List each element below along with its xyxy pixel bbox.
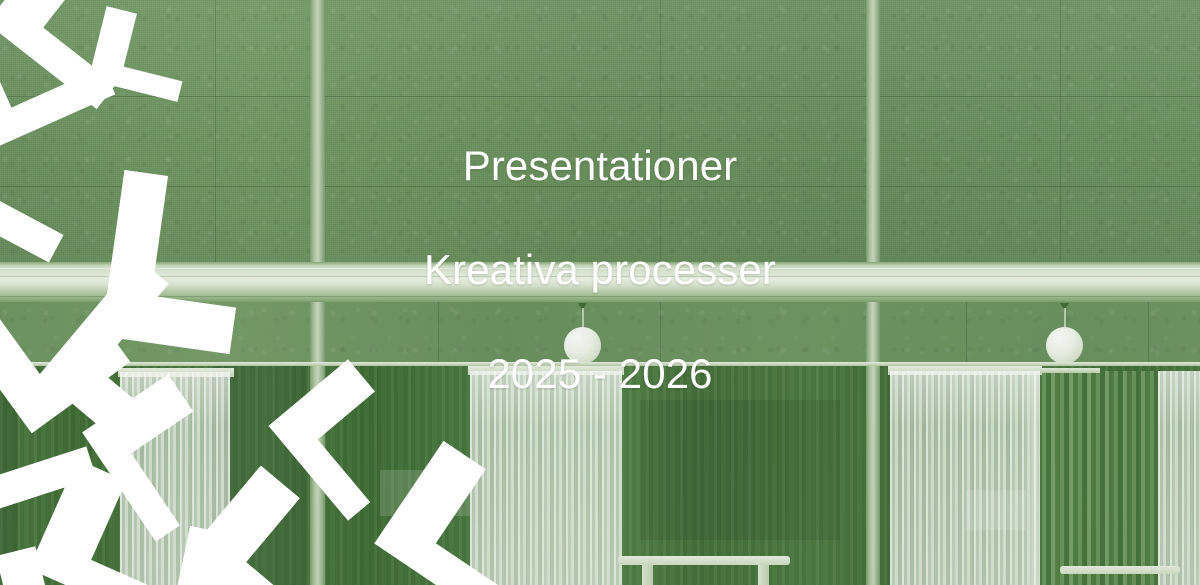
presentation-slide: Presentationer Kreativa processer 2025 -… <box>0 0 1200 585</box>
slide-title: Presentationer Kreativa processer 2025 -… <box>0 88 1200 452</box>
l-mark <box>374 441 568 585</box>
title-line-2: Kreativa processer <box>0 244 1200 296</box>
title-line-3: 2025 - 2026 <box>0 348 1200 400</box>
title-line-1: Presentationer <box>0 140 1200 192</box>
